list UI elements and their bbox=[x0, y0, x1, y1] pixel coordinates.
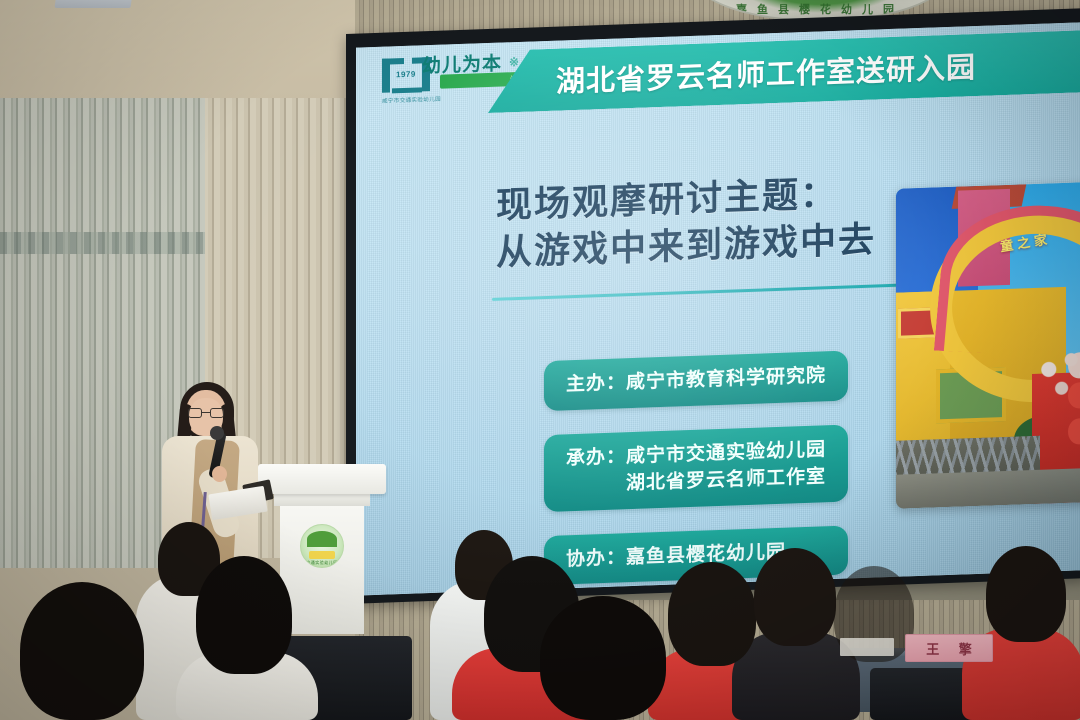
curtain-valance-band bbox=[0, 232, 205, 254]
audience-head bbox=[20, 582, 144, 720]
audience-head bbox=[668, 562, 756, 666]
slide-header-title: 湖北省罗云名师工作室送研入园 bbox=[556, 44, 976, 101]
slide-photo-kindergarten-gate: 童之家 bbox=[896, 181, 1080, 508]
photo-ground bbox=[896, 467, 1080, 508]
nameplate-text: 王 擎 bbox=[918, 639, 980, 658]
audience-head bbox=[986, 546, 1066, 642]
microphone-head bbox=[210, 426, 224, 440]
organizer-coorganizer-box: 承办：咸宁市交通实验幼儿园 湖北省罗云名师工作室 bbox=[544, 424, 848, 512]
logo-subtext: 咸宁市交通实验幼儿园 bbox=[382, 95, 441, 105]
audience-head bbox=[754, 548, 836, 646]
projection-screen: 1979 咸宁市交通实验幼儿园 幼儿为本※童蒙养正 计划 · 守候了最有幸福童年… bbox=[356, 22, 1080, 596]
attendee-nameplate: 王 擎 bbox=[905, 634, 993, 662]
lectern-logo-icon: 交通实验幼儿园 bbox=[300, 524, 344, 568]
screenshot-root: 嘉鱼县樱花幼儿园 1979 咸宁市交通实验幼儿园 bbox=[0, 0, 1080, 720]
laptop-base[interactable] bbox=[54, 0, 133, 8]
audience-head bbox=[196, 556, 292, 674]
slide-main-title: 现场观摩研讨主题： 从游戏中来到游戏中去 bbox=[496, 169, 876, 276]
lectern-logo-tree bbox=[307, 531, 337, 547]
presenter-hand bbox=[212, 466, 227, 482]
projection-screen-frame: 1979 咸宁市交通实验幼儿园 幼儿为本※童蒙养正 计划 · 守候了最有幸福童年… bbox=[346, 8, 1080, 604]
audience-head bbox=[540, 596, 666, 720]
logo-year-label: 1979 bbox=[396, 70, 416, 80]
lectern-logo-base bbox=[309, 551, 335, 559]
slide-header-banner: 湖北省罗云名师工作室送研入园 bbox=[488, 30, 1080, 113]
nameplate-blank bbox=[840, 638, 894, 656]
presenter-glasses-icon bbox=[188, 408, 224, 418]
lectern-logo-label: 交通实验幼儿园 bbox=[301, 560, 343, 566]
lectern-neck bbox=[274, 494, 370, 506]
organizer-host-box: 主办：咸宁市教育科学研究院 bbox=[544, 350, 848, 410]
photo-flowers bbox=[1036, 350, 1080, 412]
